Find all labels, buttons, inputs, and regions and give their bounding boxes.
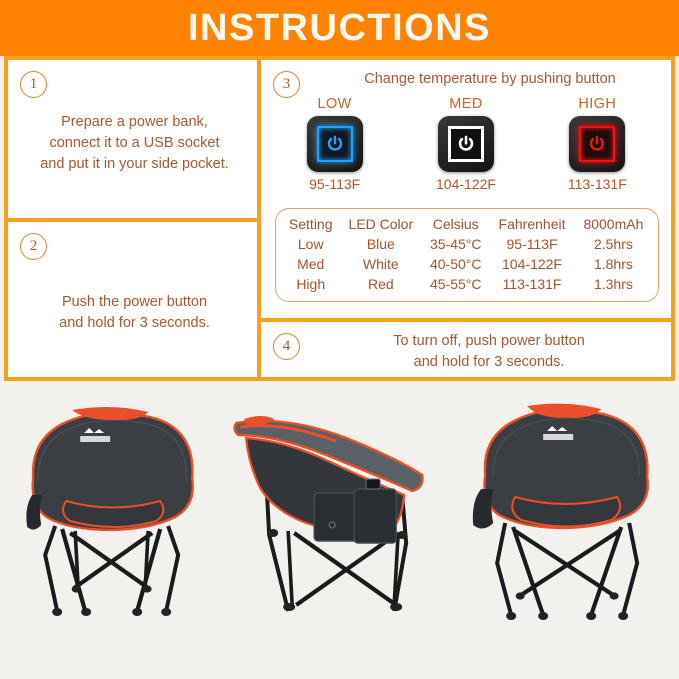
- table-header-cell: Celsius: [422, 214, 489, 234]
- step-1-text: Prepare a power bank, connect it to a US…: [22, 112, 247, 175]
- table-row: Low Blue 35-45°C 95-113F 2.5hrs: [282, 234, 652, 254]
- instruction-step-2: 2 Push the power button and hold for 3 s…: [8, 222, 257, 377]
- chair-seat-body: [33, 407, 193, 530]
- power-icon: [588, 135, 606, 153]
- table-cell: Blue: [339, 234, 422, 254]
- table-cell: 45-55°C: [422, 274, 489, 294]
- led-frame-red: [579, 126, 615, 162]
- setting-label-med: MED: [449, 96, 482, 112]
- side-pocket: [26, 495, 42, 530]
- instruction-sheet: INSTRUCTIONS 1 Prepare a power bank, con…: [0, 0, 679, 679]
- chair-frame-legs: [45, 526, 178, 616]
- table-header-cell: 8000mAh: [575, 214, 652, 234]
- table-cell: Red: [339, 274, 422, 294]
- power-icon: [457, 135, 475, 153]
- temperature-buttons-row: LOW 95-113F MED: [269, 96, 663, 192]
- table-cell: 1.8hrs: [575, 254, 652, 274]
- settings-table-container: Setting LED Color Celsius Fahrenheit 800…: [275, 208, 659, 302]
- led-frame-blue: [317, 126, 353, 162]
- led-frame-white: [448, 126, 484, 162]
- table-header-cell: LED Color: [339, 214, 422, 234]
- step-3-title: Change temperature by pushing button: [317, 71, 663, 87]
- step-number-badge: 4: [273, 333, 300, 360]
- instructions-left-column: 1 Prepare a power bank, connect it to a …: [8, 60, 261, 377]
- power-icon: [326, 135, 344, 153]
- chair-frame-legs: [497, 523, 637, 620]
- side-pocket: [472, 489, 492, 529]
- instruction-step-3: 3 Change temperature by pushing button L…: [261, 60, 671, 322]
- chair-front-illustration: [0, 383, 226, 679]
- temperature-range-low: 95-113F: [309, 176, 360, 192]
- step-number-badge: 1: [20, 71, 47, 98]
- chair-rear-view: [226, 383, 452, 679]
- power-button-med[interactable]: [438, 116, 494, 172]
- table-cell: 95-113F: [489, 234, 575, 254]
- table-header-cell: Fahrenheit: [489, 214, 575, 234]
- table-header-row: Setting LED Color Celsius Fahrenheit 800…: [282, 214, 652, 234]
- temperature-setting-med: MED 104-122F: [406, 96, 526, 192]
- step-2-text: Push the power button and hold for 3 sec…: [22, 292, 247, 334]
- table-cell: Low: [282, 234, 339, 254]
- table-cell: Med: [282, 254, 339, 274]
- chair-angled-illustration: [453, 383, 679, 679]
- power-button-high[interactable]: [569, 116, 625, 172]
- table-cell: 40-50°C: [422, 254, 489, 274]
- instructions-grid: 1 Prepare a power bank, connect it to a …: [4, 56, 675, 381]
- setting-label-low: LOW: [318, 96, 352, 112]
- table-cell: White: [339, 254, 422, 274]
- instructions-right-column: 3 Change temperature by pushing button L…: [261, 60, 671, 377]
- instruction-step-1: 1 Prepare a power bank, connect it to a …: [8, 60, 257, 222]
- power-button-low[interactable]: [307, 116, 363, 172]
- table-cell: 2.5hrs: [575, 234, 652, 254]
- table-cell: 113-131F: [489, 274, 575, 294]
- table-header-cell: Setting: [282, 214, 339, 234]
- chair-front-view: [0, 383, 226, 679]
- temperature-range-med: 104-122F: [436, 176, 496, 192]
- table-cell: 35-45°C: [422, 234, 489, 254]
- table-cell: 1.3hrs: [575, 274, 652, 294]
- settings-table: Setting LED Color Celsius Fahrenheit 800…: [282, 214, 652, 294]
- chair-angled-view: [453, 383, 679, 679]
- product-photo-strip: [0, 383, 679, 679]
- table-cell: High: [282, 274, 339, 294]
- setting-label-high: HIGH: [578, 96, 616, 112]
- chair-rear-illustration: [226, 383, 452, 679]
- chair-seat-body: [484, 404, 647, 528]
- instruction-step-4: 4 To turn off, push power button and hol…: [261, 322, 671, 377]
- page-header: INSTRUCTIONS: [0, 0, 679, 56]
- table-row: Med White 40-50°C 104-122F 1.8hrs: [282, 254, 652, 274]
- table-cell: 104-122F: [489, 254, 575, 274]
- temperature-setting-low: LOW 95-113F: [275, 96, 395, 192]
- step-4-text: To turn off, push power button and hold …: [317, 331, 661, 373]
- step-number-badge: 3: [273, 71, 300, 98]
- step-number-badge: 2: [20, 233, 47, 260]
- page-title: INSTRUCTIONS: [188, 9, 491, 47]
- temperature-setting-high: HIGH 113-131F: [537, 96, 657, 192]
- temperature-range-high: 113-131F: [568, 176, 627, 192]
- table-row: High Red 45-55°C 113-131F 1.3hrs: [282, 274, 652, 294]
